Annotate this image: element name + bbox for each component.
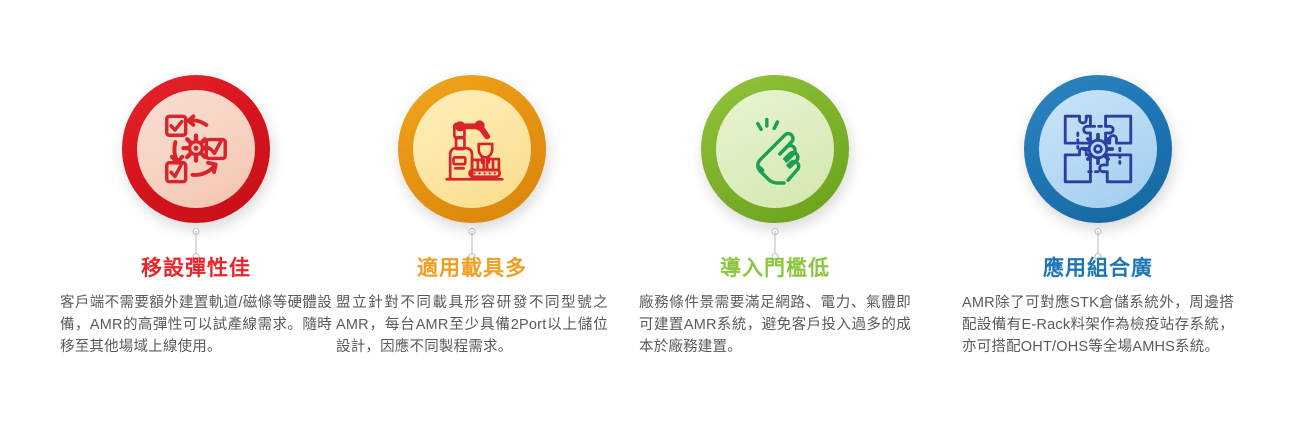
process-cycle-gear-checklist-icon [153,106,239,192]
click-hand-cursor-icon [734,108,816,190]
card-body: 盟立針對不同載具形容研發不同型號之AMR，每台AMR至少具備2Port以上儲位設… [322,292,622,358]
feature-card-carriers: 適用載具多 盟立針對不同載具形容研發不同型號之AMR，每台AMR至少具備2Por… [322,0,622,444]
card-body: 廠務條件景需要滿足網路、電力、氣體即可建置AMR系統，避免客戶投入過多的成本於廠… [625,292,925,358]
card-title: 移設彈性佳 [46,256,346,282]
card-body-text: 盟立針對不同載具形容研發不同型號之AMR，每台AMR至少具備2Port以上儲位設… [336,292,608,358]
badge-inner [716,90,834,208]
card-title: 導入門檻低 [625,256,925,282]
badge-carriers [398,75,546,223]
badge-threshold [701,75,849,223]
feature-card-integration: 應用組合廣 AMR除了可對應STK倉儲系統外，周邊搭配設備有E-Rack料架作為… [948,0,1248,444]
card-title: 適用載具多 [322,256,622,282]
card-body-text: 廠務條件景需要滿足網路、電力、氣體即可建置AMR系統，避免客戶投入過多的成本於廠… [639,292,911,358]
badge-integration [1024,75,1172,223]
puzzle-pieces-gear-integration-icon [1056,107,1140,191]
feature-row-diagram: 移設彈性佳 客戶端不需要額外建置軌道/磁條等硬體設備，AMR的高彈性可以試產線需… [0,0,1299,444]
card-body-text: AMR除了可對應STK倉儲系統外，周邊搭配設備有E-Rack料架作為檢疫站存系統… [962,292,1234,358]
feature-card-flexibility: 移設彈性佳 客戶端不需要額外建置軌道/磁條等硬體設備，AMR的高彈性可以試產線需… [46,0,346,444]
card-title: 應用組合廣 [948,256,1248,282]
card-body: AMR除了可對應STK倉儲系統外，周邊搭配設備有E-Rack料架作為檢疫站存系統… [948,292,1248,358]
feature-card-threshold: 導入門檻低 廠務條件景需要滿足網路、電力、氣體即可建置AMR系統，避免客戶投入過… [625,0,925,444]
robot-arm-factory-icon [430,107,514,191]
badge-inner [1039,90,1157,208]
badge-inner [413,90,531,208]
badge-flexibility [122,75,270,223]
card-body: 客戶端不需要額外建置軌道/磁條等硬體設備，AMR的高彈性可以試產線需求。隨時移至… [46,292,346,358]
card-body-text: 客戶端不需要額外建置軌道/磁條等硬體設備，AMR的高彈性可以試產線需求。隨時移至… [60,292,332,358]
badge-inner [137,90,255,208]
